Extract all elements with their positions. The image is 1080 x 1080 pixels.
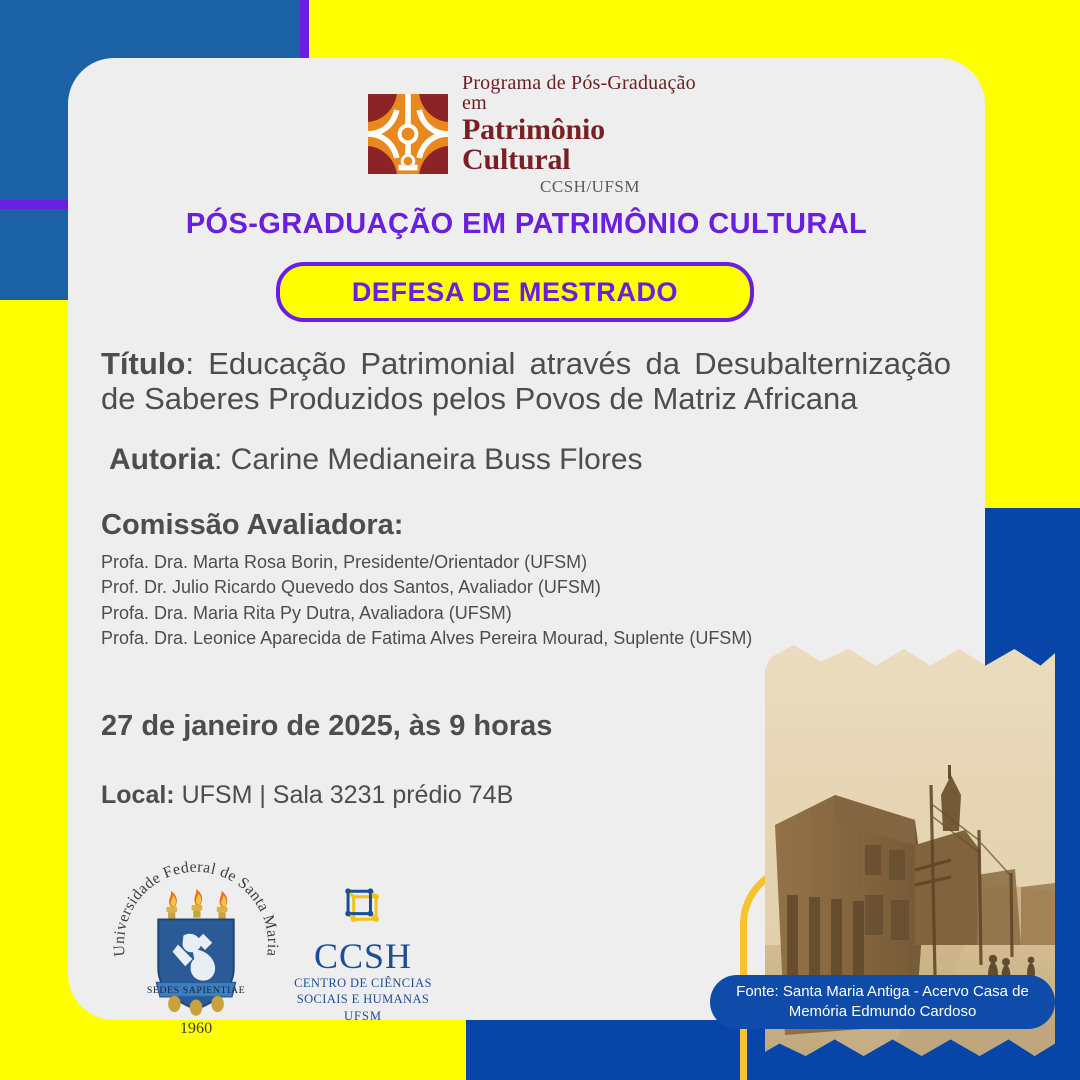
authorship-line: Autoria: Carine Medianeira Buss Flores (101, 443, 951, 477)
thesis-title-separator: : (185, 346, 208, 381)
ppg-logo: Programa de Pós-Graduação em Patrimônio … (368, 90, 718, 178)
ccsh-cube-icon (335, 880, 391, 936)
patrimonio-cultural-tile-logo-icon (368, 94, 448, 174)
event-location-label: Local: (101, 781, 175, 809)
ppg-logo-line3: CCSH/UFSM (462, 178, 718, 195)
poster-canvas: Programa de Pós-Graduação em Patrimônio … (0, 0, 1080, 1080)
historic-photo: Fonte: Santa Maria Antiga - Acervo Casa … (765, 645, 1055, 1060)
ccsh-subtitle-line1: CENTRO DE CIÊNCIAS (294, 976, 432, 990)
ccsh-logo: CCSH CENTRO DE CIÊNCIAS SOCIAIS E HUMANA… (283, 880, 443, 1020)
ppg-logo-line2: Patrimônio Cultural (462, 115, 718, 175)
thesis-title-label: Título (101, 346, 185, 381)
authorship-name: Carine Medianeira Buss Flores (231, 443, 643, 476)
ufsm-seal-motto: SEDES SAPIENTIAE (147, 985, 245, 996)
event-location-value: UFSM | Sala 3231 prédio 74B (175, 781, 514, 809)
committee-member: Prof. Dr. Julio Ricardo Quevedo dos Sant… (101, 575, 951, 601)
ccsh-acronym: CCSH (314, 938, 412, 974)
program-title: PÓS-GRADUAÇÃO EM PATRIMÔNIO CULTURAL (68, 208, 985, 241)
ufsm-seal-icon: Universidade Federal de Santa Maria (106, 860, 286, 1040)
committee-list: Profa. Dra. Marta Rosa Borin, Presidente… (101, 550, 951, 652)
thesis-title-text: Educação Patrimonial através da Desubalt… (101, 346, 951, 416)
ccsh-subtitle-line2: SOCIAIS E HUMANAS (297, 992, 430, 1006)
authorship-label: Autoria (109, 443, 214, 476)
ccsh-institution: UFSM (344, 1009, 382, 1024)
thesis-title-paragraph: Título: Educação Patrimonial através da … (101, 346, 951, 417)
committee-member: Profa. Dra. Maria Rita Py Dutra, Avaliad… (101, 601, 951, 627)
ppg-logo-line1: Programa de Pós-Graduação em (462, 73, 718, 113)
committee-heading: Comissão Avaliadora: (101, 509, 951, 542)
photo-caption: Fonte: Santa Maria Antiga - Acervo Casa … (710, 975, 1055, 1029)
committee-member: Profa. Dra. Marta Rosa Borin, Presidente… (101, 550, 951, 576)
ufsm-seal-year: 1960 (180, 1019, 212, 1037)
defense-type-badge: DEFESA DE MESTRADO (276, 262, 754, 322)
authorship-separator: : (214, 443, 231, 476)
